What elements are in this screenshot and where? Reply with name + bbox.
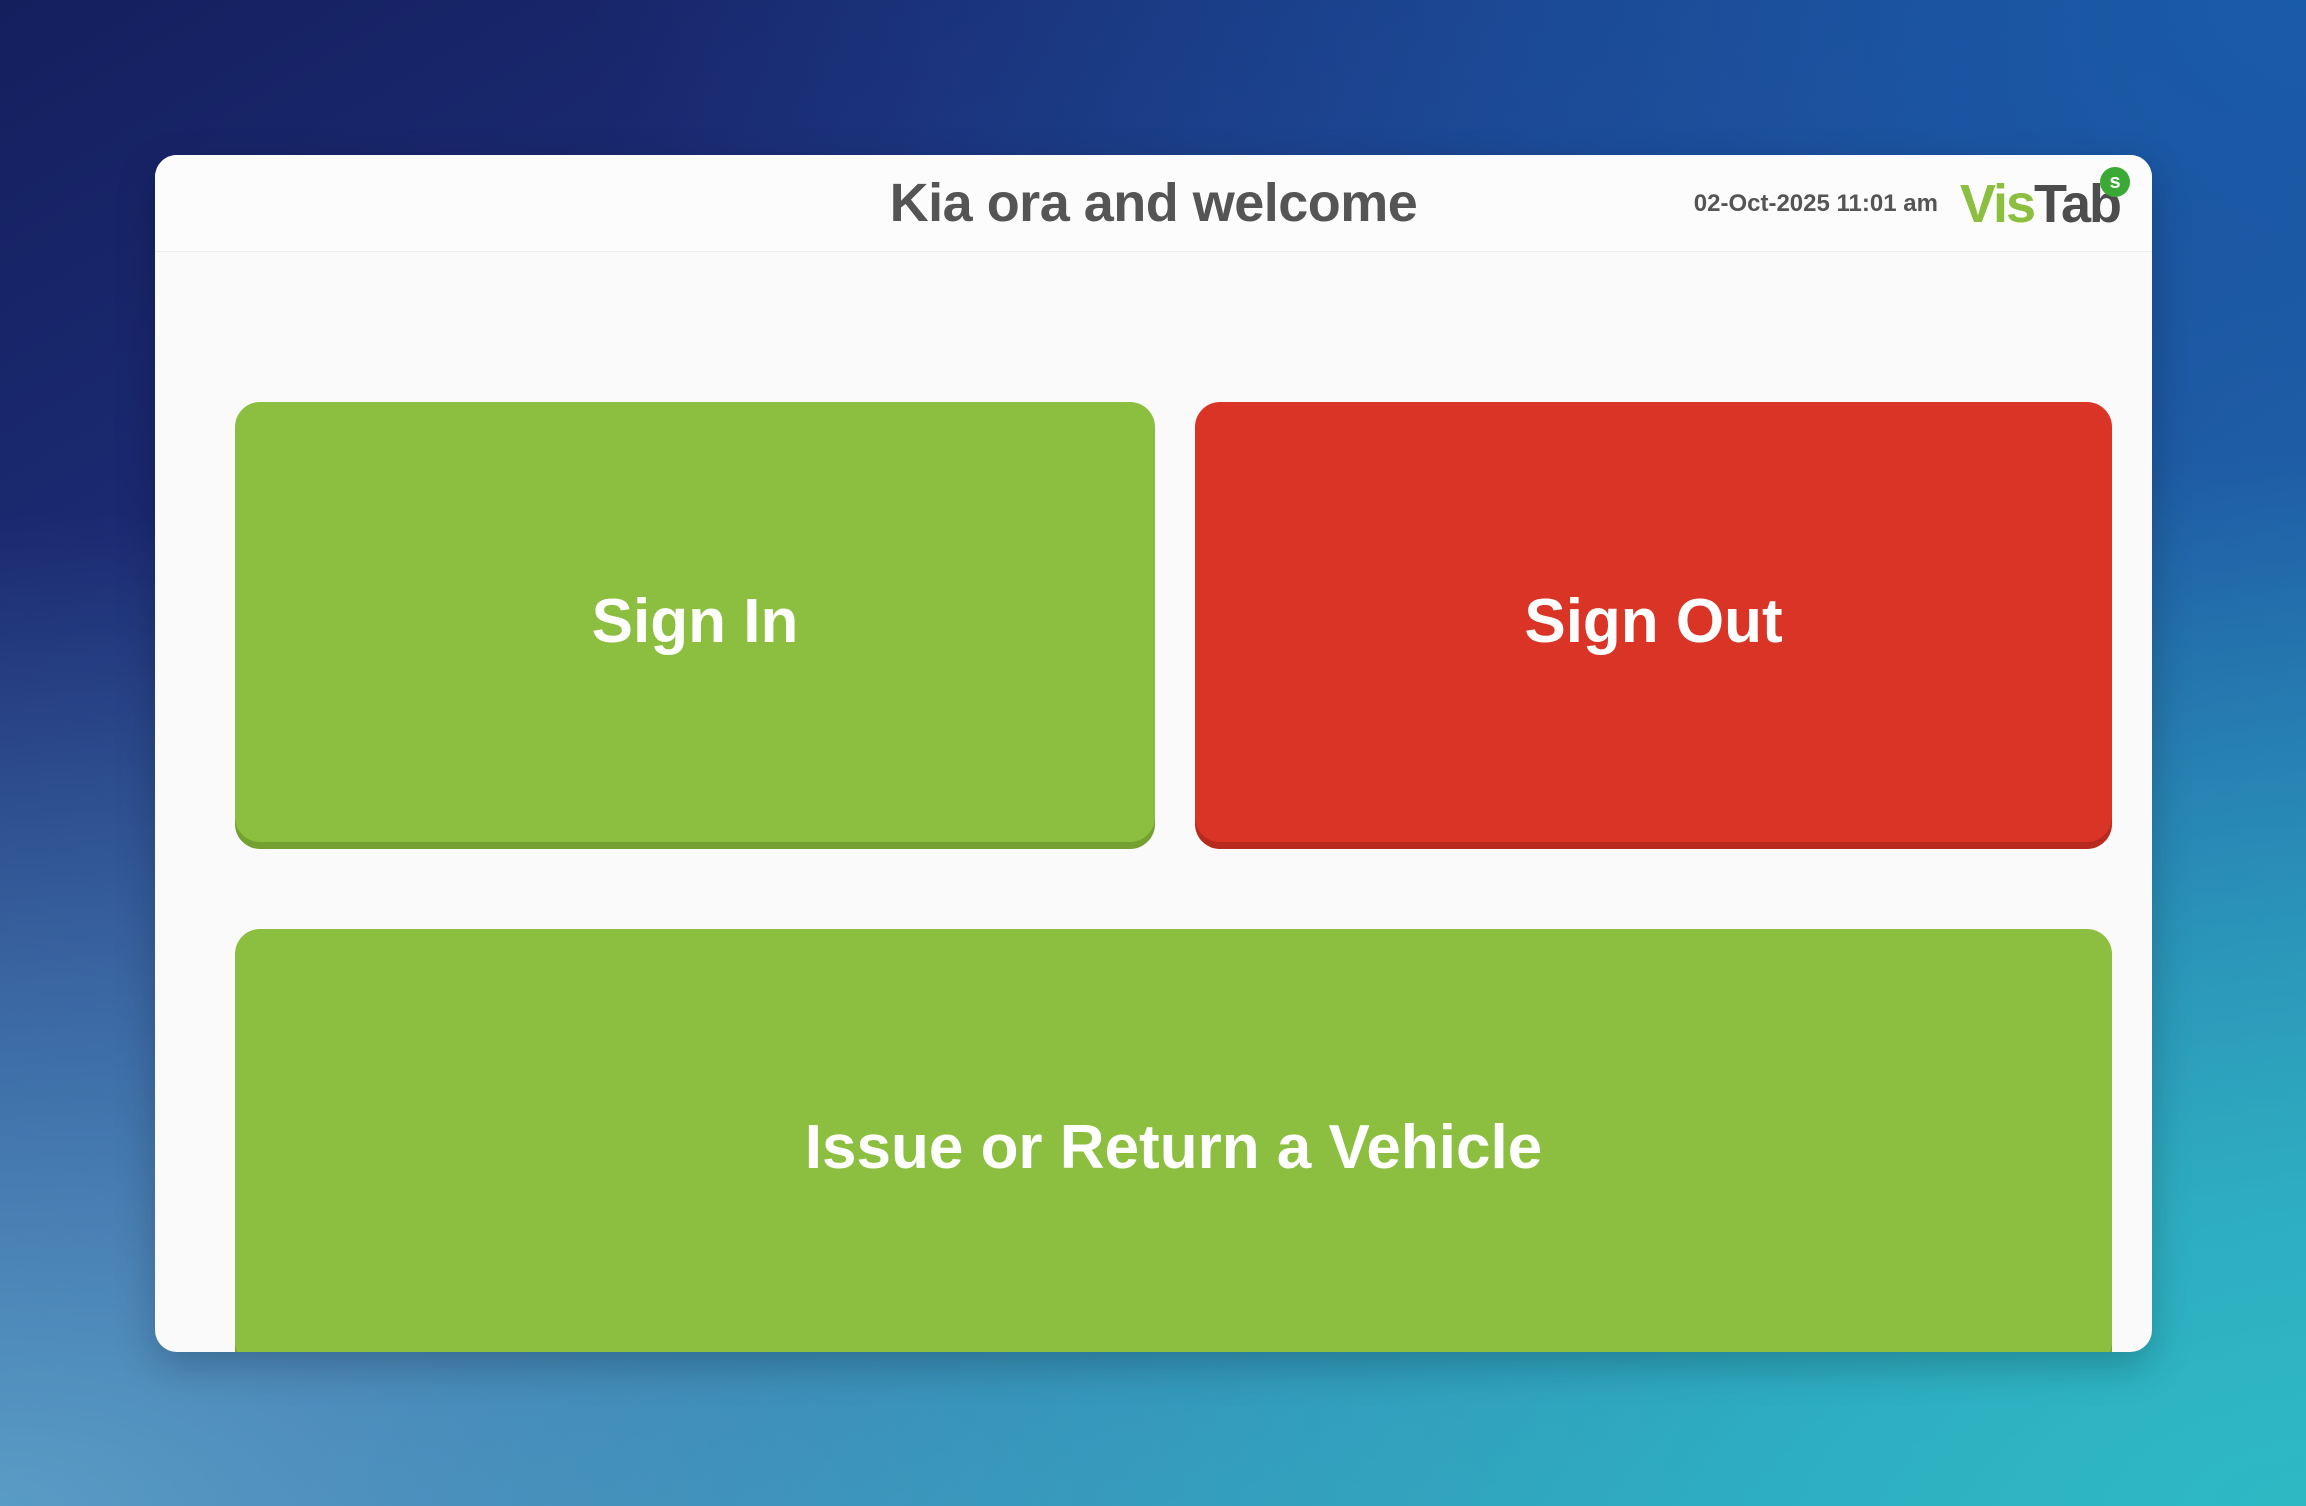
card-body: Sign In Sign Out Issue or Return a Vehic… (155, 252, 2152, 1352)
sign-in-button[interactable]: Sign In (235, 402, 1155, 842)
logo-text-vis: Vis (1960, 174, 2034, 234)
sign-out-button[interactable]: Sign Out (1195, 402, 2112, 842)
header-right-group: 02-Oct-2025 11:01 am VisTabs (1694, 155, 2126, 252)
logo-superscript-badge-icon: s (2100, 167, 2130, 197)
datetime-display: 02-Oct-2025 11:01 am (1694, 190, 1938, 218)
vistab-logo: VisTabs (1960, 177, 2126, 231)
kiosk-card: Kia ora and welcome 02-Oct-2025 11:01 am… (155, 155, 2152, 1352)
issue-or-return-vehicle-button[interactable]: Issue or Return a Vehicle (235, 929, 2112, 1352)
card-header: Kia ora and welcome 02-Oct-2025 11:01 am… (155, 155, 2152, 252)
kiosk-screen: { "header": { "title": "Kia ora and welc… (0, 0, 2306, 1506)
